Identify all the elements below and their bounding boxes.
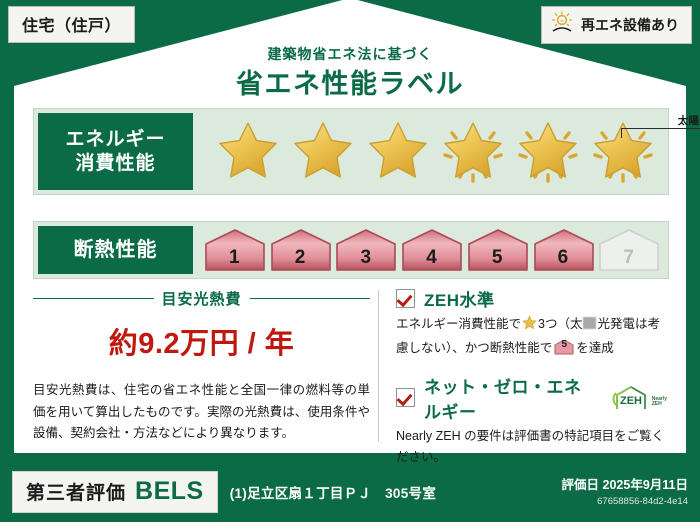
label-subtitle: 建築物省エネ法に基づく <box>0 44 700 64</box>
energy-stars-area: 太陽光発電(自家消費)分 <box>197 109 668 194</box>
solar-sun-icon: ⌁ <box>550 11 574 38</box>
net-zero-energy-checkbox[interactable] <box>396 388 415 407</box>
certification-block: ZEH水準 エネルギー消費性能で3つ（太光発電は考慮しない）、かつ断熱性能で5を… <box>378 286 667 448</box>
page-title: 省エネ性能ラベル <box>0 62 700 101</box>
insulation-level-5: 5 <box>466 228 529 272</box>
insulation-level-number: 6 <box>558 247 569 272</box>
insulation-level-number: 5 <box>492 247 503 272</box>
insulation-level-number: 3 <box>360 247 371 272</box>
lower-section: 目安光熱費 約9.2万円 / 年 目安光熱費は、住宅の省エネ性能と全国一律の燃料… <box>33 286 667 448</box>
evaluation-date: 評価日 2025年9月11日 <box>562 474 688 493</box>
insulation-level-number: 1 <box>229 247 240 272</box>
net-zero-energy-title: ネット・ゼロ・エネルギー <box>424 373 598 423</box>
zeh-standard-title: ZEH水準 <box>424 286 495 311</box>
inline-star-icon <box>522 315 537 338</box>
zeh-logo-sub2: ZEH <box>652 402 667 407</box>
redacted-character <box>583 317 596 329</box>
insulation-level-2: 2 <box>269 228 332 272</box>
insulation-level-4: 4 <box>400 228 463 272</box>
footer-bar: 第三者評価 BELS (1)足立区扇１丁目ＰＪ 305号室 評価日 2025年9… <box>0 462 700 522</box>
insulation-level-3: 3 <box>334 228 397 272</box>
insulation-level-7: 7 <box>597 228 660 272</box>
star-1 <box>215 119 281 185</box>
zeh-standard-description: エネルギー消費性能で3つ（太光発電は考慮しない）、かつ断熱性能で5を達成 <box>396 314 667 360</box>
utility-cost-heading: 目安光熱費 <box>33 288 370 309</box>
energy-tag-line1: エネルギー <box>65 128 165 151</box>
zeh-standard-check-row: ZEH水準 <box>396 286 667 311</box>
star-4 <box>440 119 506 185</box>
insulation-performance-row: 断熱性能 1234567 <box>33 221 669 279</box>
net-zero-energy-check-row: ネット・ゼロ・エネルギー ZEH Nearly ZEH <box>396 373 667 423</box>
energy-tag-line2: 消費性能 <box>75 152 155 175</box>
zeh-logo: ZEH Nearly ZEH <box>612 385 667 410</box>
star-5 <box>515 119 581 185</box>
utility-cost-block: 目安光熱費 約9.2万円 / 年 目安光熱費は、住宅の省エネ性能と全国一律の燃料… <box>33 286 378 448</box>
bels-badge: 第三者評価 BELS <box>12 471 218 513</box>
energy-performance-tag: エネルギー 消費性能 <box>38 113 193 190</box>
utility-cost-note: 目安光熱費は、住宅の省エネ性能と全国一律の燃料等の単価を用いて算出したものです。… <box>33 380 370 445</box>
insulation-level-number: 4 <box>426 247 437 272</box>
insulation-level-scale: 1234567 <box>203 222 660 278</box>
building-type-chip: 住宅（住戸） <box>8 6 135 43</box>
insulation-tag-label: 断熱性能 <box>74 238 158 262</box>
zeh-desc-part1: エネルギー消費性能で <box>396 317 521 331</box>
star-3 <box>365 119 431 185</box>
zeh-desc-part4: を達成 <box>576 341 614 355</box>
star-rating <box>201 109 660 194</box>
document-id: 67658856-84d2-4e14 <box>562 496 688 507</box>
zeh-standard-checkbox[interactable] <box>396 289 415 308</box>
evaluation-date-value: 2025年9月11日 <box>603 478 688 492</box>
utility-cost-value: 約9.2万円 / 年 <box>33 320 370 362</box>
zeh-desc-part2: 3つ（太 <box>538 317 582 331</box>
property-address: (1)足立区扇１丁目ＰＪ 305号室 <box>230 482 436 502</box>
solar-annotation-label: 太陽光発電(自家消費)分 <box>615 113 700 128</box>
insulation-level-1: 1 <box>203 228 266 272</box>
utility-cost-heading-label: 目安光熱費 <box>162 288 242 309</box>
bels-badge-jp: 第三者評価 <box>26 478 126 505</box>
insulation-level-6: 6 <box>532 228 595 272</box>
solar-annotation-bracket <box>621 128 700 138</box>
svg-text:⌁: ⌁ <box>560 18 564 25</box>
evaluation-info: 評価日 2025年9月11日 67658856-84d2-4e14 <box>562 474 688 507</box>
star-2 <box>290 119 356 185</box>
renewable-equipment-label: 再エネ設備あり <box>581 15 679 35</box>
insulation-levels-area: 1234567 <box>197 222 668 278</box>
svg-text:ZEH: ZEH <box>620 395 642 407</box>
energy-performance-row: エネルギー 消費性能 太陽光発電(自家消費)分 <box>33 108 669 195</box>
insulation-level-number: 2 <box>295 247 306 272</box>
insulation-level-number: 7 <box>623 247 634 272</box>
renewable-equipment-chip: ⌁ 再エネ設備あり <box>541 6 692 44</box>
bels-badge-en: BELS <box>135 477 204 506</box>
evaluation-date-label: 評価日 <box>562 478 600 492</box>
energy-performance-label: 住宅（住戸） ⌁ 再エネ設備あり 建築物省エネ法に基づく 省エネ性能ラベ <box>0 0 700 522</box>
inline-insulation-level-icon: 5 <box>554 340 574 355</box>
insulation-performance-tag: 断熱性能 <box>38 226 193 274</box>
